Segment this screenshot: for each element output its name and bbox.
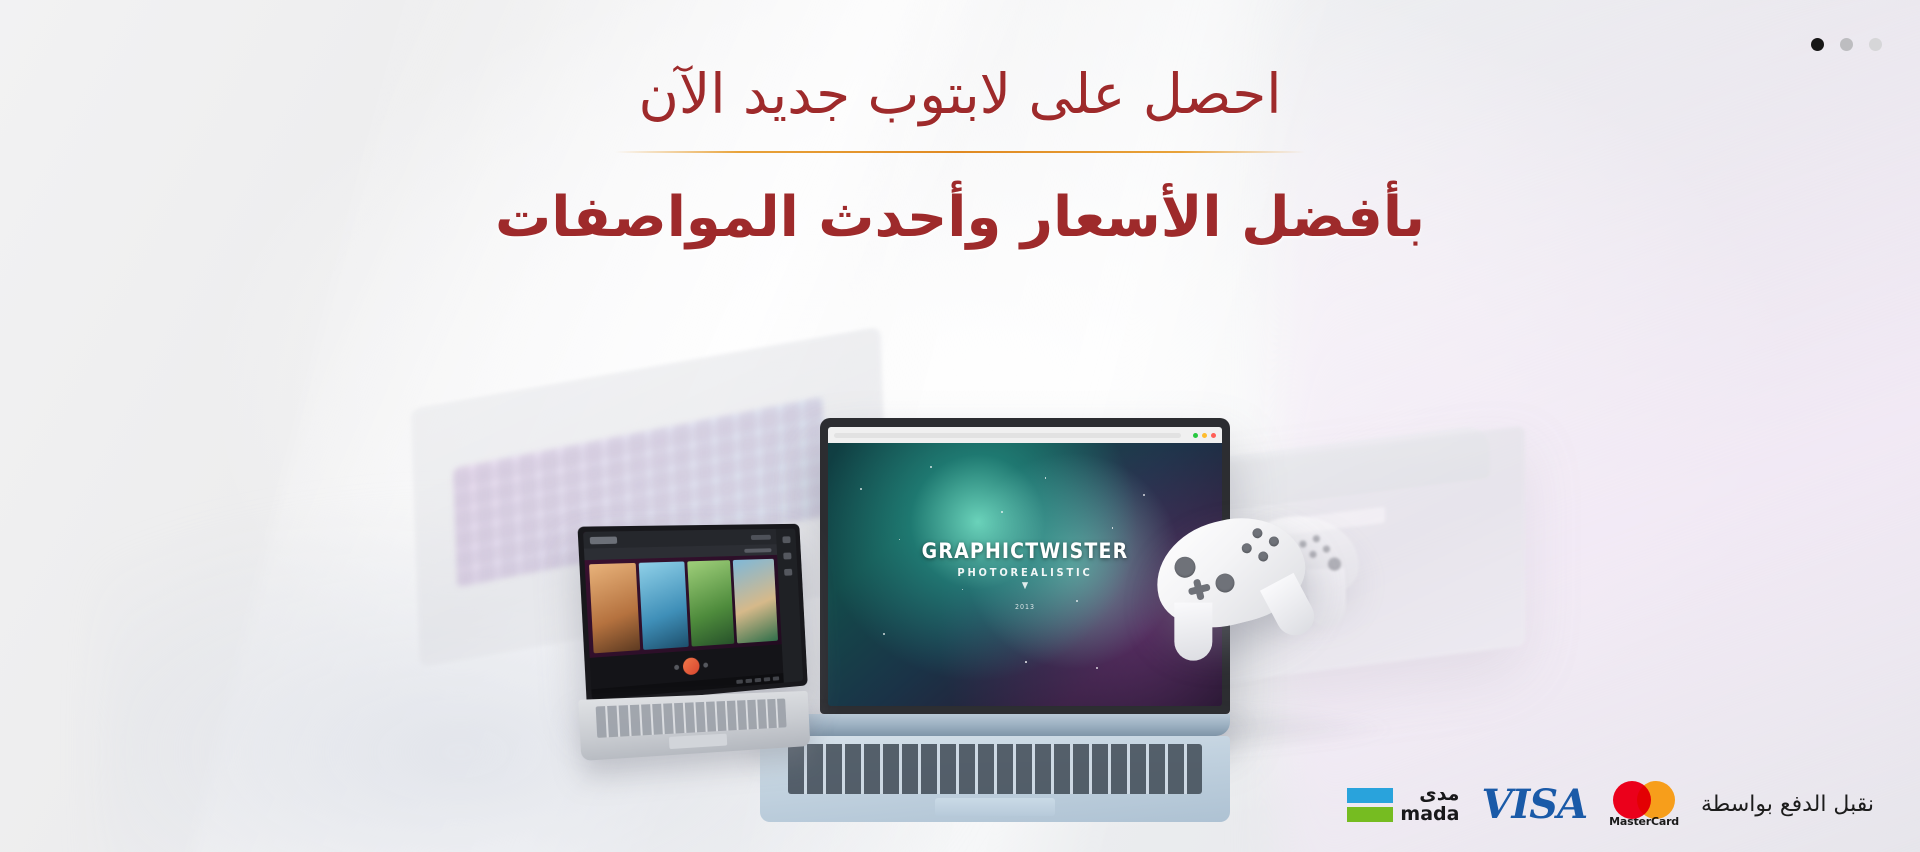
- hero-laptop-small: [579, 519, 821, 759]
- photo-thumbnail: [589, 563, 640, 653]
- photo-thumbnail-grid: [585, 555, 782, 658]
- mastercard-logo: MasterCard: [1609, 781, 1679, 828]
- breadcrumb-placeholder: [744, 548, 771, 553]
- window-minimize-dot: [1202, 433, 1207, 438]
- photo-thumbnail: [639, 561, 688, 649]
- controller-button-a: [1257, 550, 1269, 562]
- status-chip: [736, 679, 743, 683]
- mada-arabic-text: مدى: [1400, 785, 1459, 805]
- mada-logo: مدى mada: [1347, 785, 1459, 825]
- hero-laptop-large: GRAPHICTWISTER PHOTOREALISTIC ▼ 2013: [820, 418, 1230, 822]
- laptop-large-trackpad: [935, 798, 1055, 816]
- mada-wordmark: مدى mada: [1400, 785, 1459, 825]
- mastercard-circles-icon: [1613, 781, 1675, 819]
- laptop-small-lid: [577, 524, 807, 706]
- toolbar-title-placeholder: [751, 534, 771, 539]
- window-maximize-dot: [1193, 433, 1198, 438]
- headline-block: احصل على لابتوب جديد الآن بأفضل الأسعار …: [0, 60, 1920, 253]
- mada-green-bar: [1347, 807, 1393, 822]
- carousel-dot-3[interactable]: [1811, 38, 1824, 51]
- app-main-area: [583, 529, 784, 700]
- payment-label: نقبل الدفع بواسطة: [1701, 792, 1874, 817]
- sidebar-icon: [782, 536, 790, 543]
- browser-address-bar: [834, 433, 1181, 438]
- controller-button: [1322, 545, 1330, 553]
- laptop-large-deck: [760, 736, 1230, 822]
- sidebar-icon: [784, 569, 792, 576]
- photo-thumbnail: [687, 560, 734, 647]
- headline-primary: احصل على لابتوب جديد الآن: [0, 60, 1920, 129]
- record-button-icon: [682, 657, 699, 675]
- control-dot: [674, 664, 679, 669]
- mastercard-yellow-circle: [1637, 781, 1675, 819]
- mada-bars-icon: [1347, 788, 1393, 822]
- mada-latin-text: mada: [1400, 805, 1459, 825]
- status-chip: [755, 678, 762, 682]
- carousel-dot-2[interactable]: [1840, 38, 1853, 51]
- headline-secondary: بأفضل الأسعار وأحدث المواصفات: [0, 183, 1920, 253]
- controller-grip: [1174, 603, 1212, 661]
- status-chip: [773, 676, 779, 680]
- payment-methods-bar: نقبل الدفع بواسطة MasterCard VISA مدى ma…: [1347, 781, 1874, 828]
- controller-button-y: [1251, 527, 1263, 539]
- status-chip: [745, 679, 752, 683]
- photo-thumbnail: [733, 559, 779, 644]
- laptop-large-hinge: [760, 714, 1230, 736]
- controller-button: [1299, 540, 1307, 548]
- controller-button-b: [1268, 535, 1280, 547]
- controller-right-stick: [1214, 572, 1237, 595]
- window-close-dot: [1211, 433, 1216, 438]
- sidebar-icon: [783, 553, 791, 560]
- controller-button: [1309, 550, 1317, 558]
- visa-logo: VISA: [1481, 785, 1587, 825]
- laptop-large-keyboard: [788, 744, 1202, 794]
- controller-button-x: [1241, 542, 1253, 554]
- browser-chrome-bar: [828, 427, 1222, 443]
- mada-blue-bar: [1347, 788, 1393, 803]
- promo-banner: احصل على لابتوب جديد الآن بأفضل الأسعار …: [0, 0, 1920, 852]
- control-dot: [703, 662, 708, 667]
- headline-divider: [615, 151, 1305, 153]
- laptop-small-keyboard: [596, 699, 787, 738]
- carousel-dots[interactable]: [1811, 38, 1882, 51]
- laptop-small-trackpad: [669, 734, 727, 749]
- status-chip: [764, 677, 771, 681]
- controller-button: [1312, 535, 1320, 543]
- toolbar-button-placeholder: [590, 536, 618, 544]
- carousel-dot-1[interactable]: [1869, 38, 1882, 51]
- controller-left-stick: [1172, 555, 1197, 580]
- laptop-small-screen: [583, 529, 803, 700]
